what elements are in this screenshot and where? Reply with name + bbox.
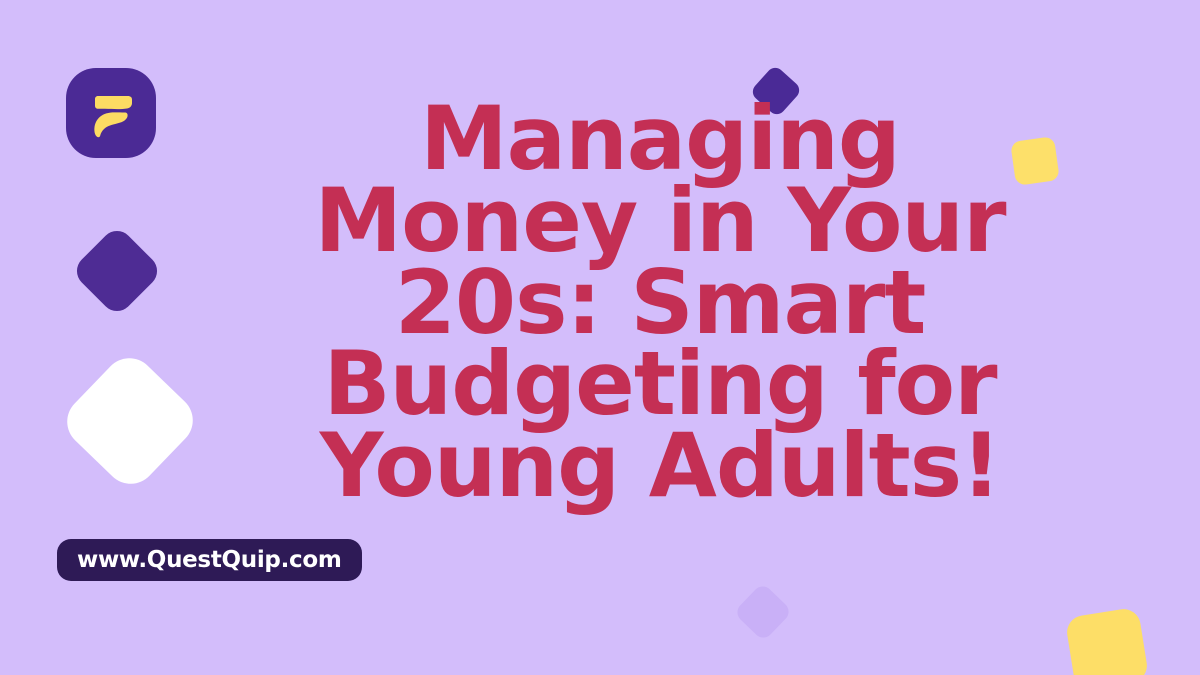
- page-title: Managing Money in Your 20s: Smart Budget…: [288, 98, 1032, 507]
- decor-faint-lavender-diamond: [733, 582, 792, 641]
- url-badge-label: www.QuestQuip.com: [77, 547, 342, 573]
- decor-purple-diamond-large: [70, 224, 163, 317]
- url-badge[interactable]: www.QuestQuip.com: [57, 539, 362, 581]
- brand-logo: [66, 68, 156, 158]
- questquip-flame-logo-icon: [83, 87, 139, 139]
- social-graphic-canvas: Managing Money in Your 20s: Smart Budget…: [0, 0, 1200, 675]
- decor-white-diamond: [56, 347, 203, 494]
- decor-yellow-square-large: [1065, 607, 1150, 675]
